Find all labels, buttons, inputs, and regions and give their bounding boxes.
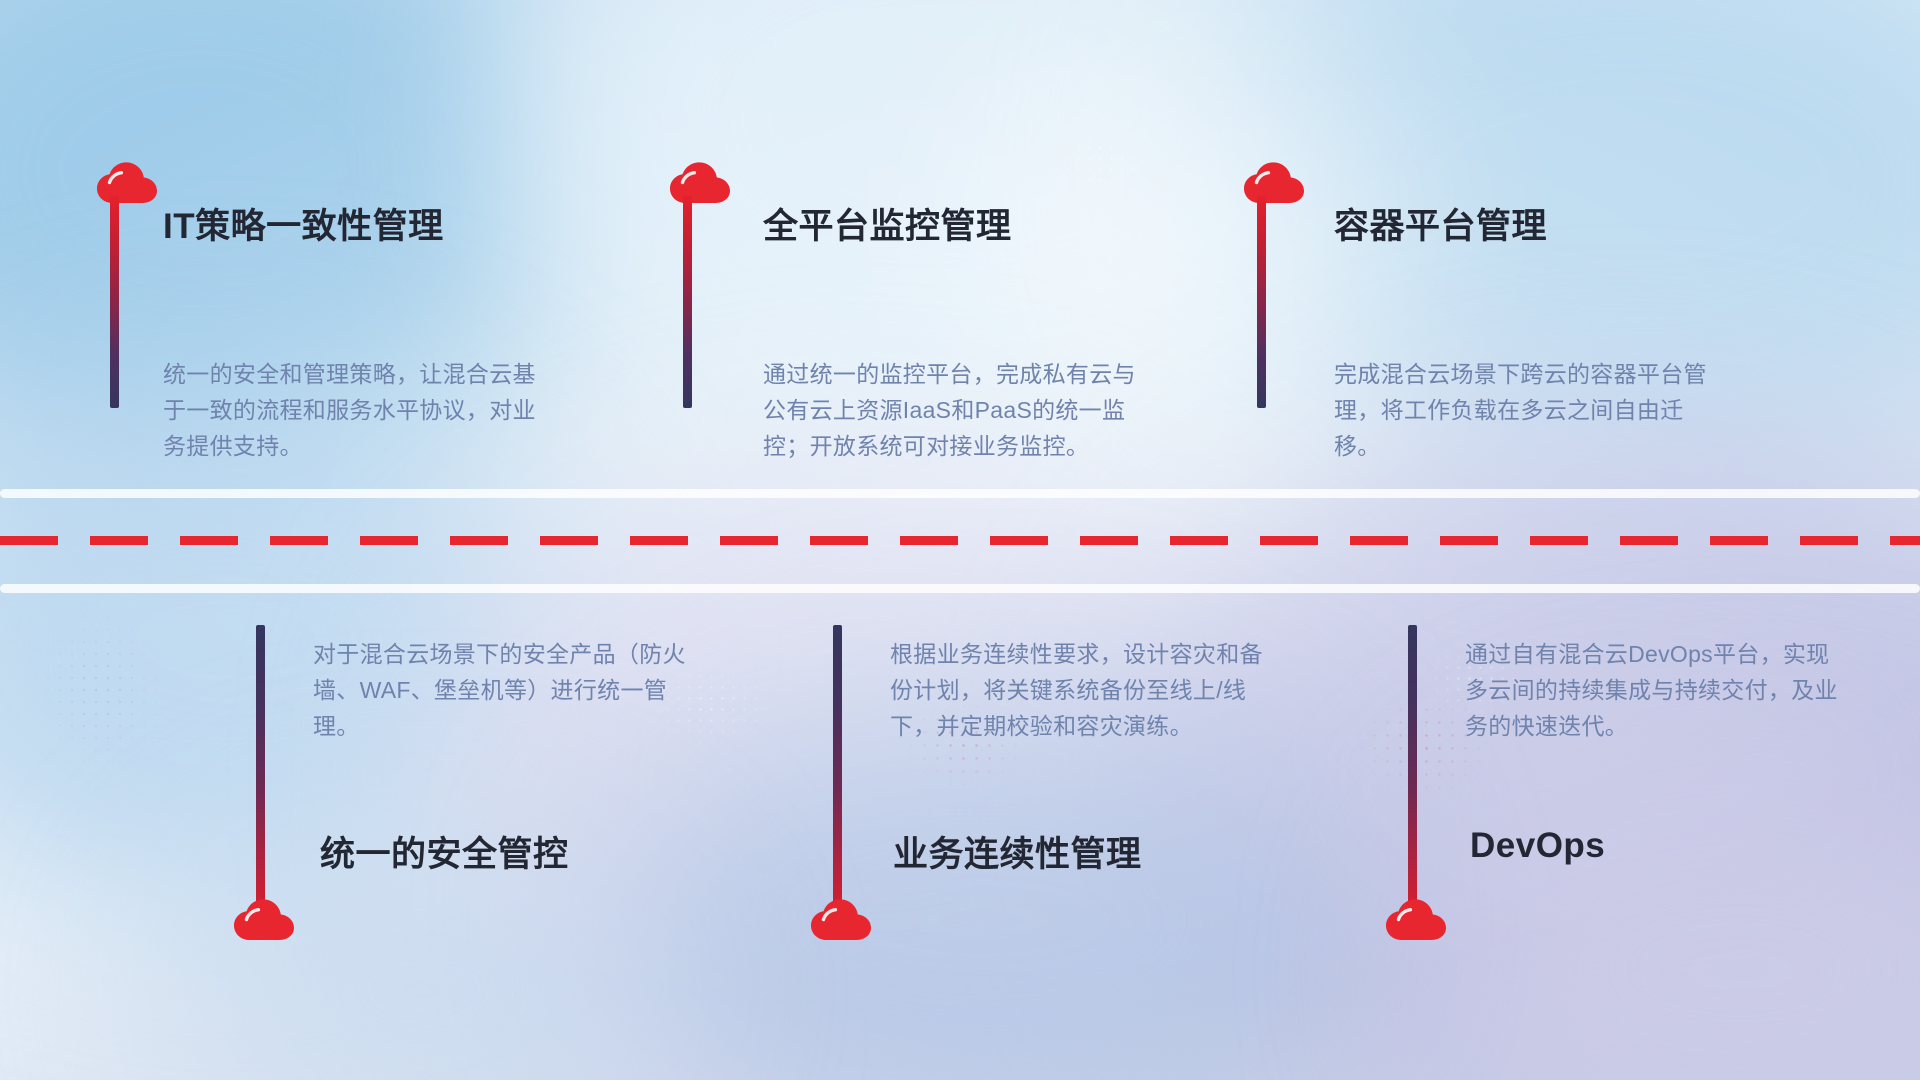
top-item-title: 全平台监控管理 (763, 198, 1012, 249)
bottom-item-title: DevOps (1470, 826, 1605, 866)
cloud-icon (96, 160, 158, 204)
cloud-icon (233, 897, 295, 941)
top-item-description: 统一的安全和管理策略，让混合云基于一致的流程和服务水平协议，对业务提供支持。 (163, 356, 543, 464)
connector-stem (110, 196, 119, 408)
top-item-description: 通过统一的监控平台，完成私有云与公有云上资源IaaS和PaaS的统一监控；开放系… (763, 356, 1143, 464)
bottom-item-title: 统一的安全管控 (320, 826, 569, 877)
connector-stem (256, 625, 265, 908)
divider-dashed-line (0, 536, 1920, 545)
connector-stem (1408, 625, 1417, 908)
bottom-item-description: 通过自有混合云DevOps平台，实现多云间的持续集成与持续交付，及业务的快速迭代… (1465, 636, 1845, 744)
bottom-item-title: 业务连续性管理 (893, 826, 1142, 877)
speckle-dots (30, 600, 170, 780)
connector-stem (833, 625, 842, 908)
divider-rule-top (0, 489, 1920, 498)
top-item-description: 完成混合云场景下跨云的容器平台管理，将工作负载在多云之间自由迁移。 (1334, 356, 1714, 464)
bottom-item-description: 根据业务连续性要求，设计容灾和备份计划，将关键系统备份至线上/线下，并定期校验和… (890, 636, 1270, 744)
section-divider (0, 489, 1920, 599)
speckle-dots (1040, 120, 1170, 210)
divider-rule-bottom (0, 584, 1920, 593)
top-item-title: IT策略一致性管理 (163, 198, 444, 249)
connector-stem (1257, 196, 1266, 408)
top-item-title: 容器平台管理 (1334, 198, 1547, 249)
cloud-icon (1385, 897, 1447, 941)
bottom-item-description: 对于混合云场景下的安全产品（防火墙、WAF、堡垒机等）进行统一管理。 (313, 636, 693, 744)
cloud-icon (810, 897, 872, 941)
cloud-icon (669, 160, 731, 204)
cloud-icon (1243, 160, 1305, 204)
connector-stem (683, 196, 692, 408)
